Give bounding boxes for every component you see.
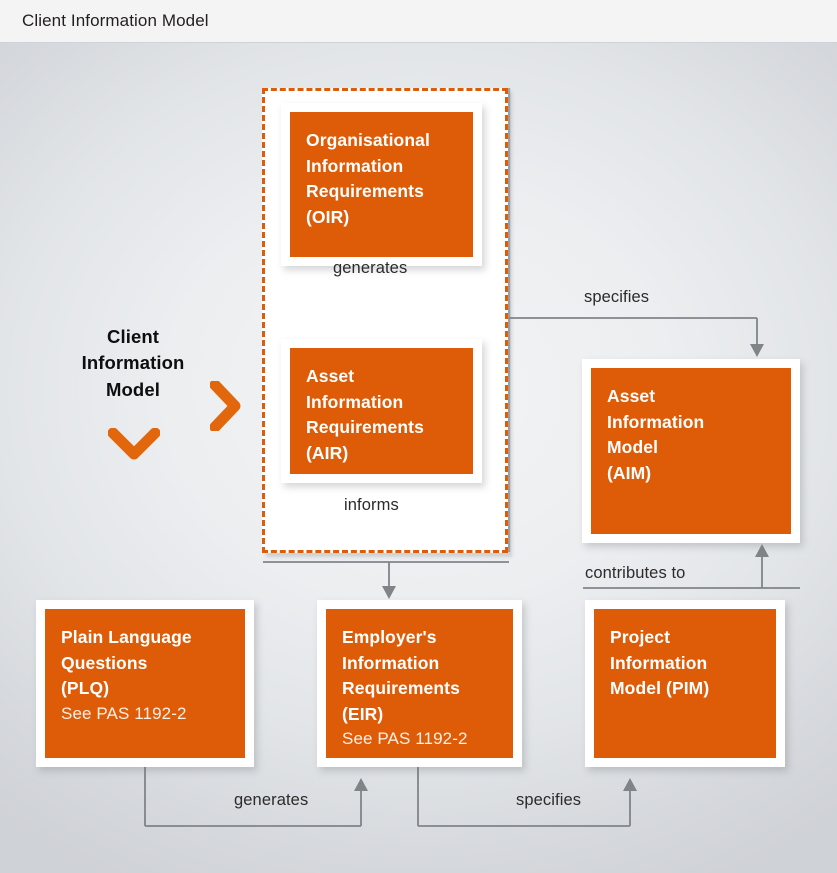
node-oir[interactable]: Organisational Information Requirements … xyxy=(281,103,482,266)
node-aim[interactable]: Asset Information Model (AIM) xyxy=(582,359,800,543)
node-aim-line-4: (AIM) xyxy=(607,463,651,483)
node-eir-line-4: (EIR) xyxy=(342,704,383,724)
caption-line-1: Client xyxy=(107,326,159,347)
node-plq-fill: Plain Language Questions (PLQ) See PAS 1… xyxy=(45,609,245,758)
node-air[interactable]: Asset Information Requirements (AIR) xyxy=(281,339,482,483)
client-information-model-caption: Client Information Model xyxy=(60,324,206,403)
node-aim-label: Asset Information Model (AIM) xyxy=(607,384,777,486)
node-plq-line-1: Plain Language xyxy=(61,627,192,647)
node-air-line-3: Requirements xyxy=(306,417,424,437)
page-header: Client Information Model xyxy=(0,0,837,43)
node-eir-line-3: Requirements xyxy=(342,678,460,698)
node-plq-subtext: See PAS 1192-2 xyxy=(61,702,231,727)
node-aim-line-2: Information xyxy=(607,412,704,432)
node-pim[interactable]: Project Information Model (PIM) xyxy=(585,600,785,767)
node-eir-subtext: See PAS 1192-2 xyxy=(342,727,499,752)
chevron-right-icon xyxy=(210,381,242,431)
edge-label-plq-generates-eir: generates xyxy=(234,791,308,810)
node-plq[interactable]: Plain Language Questions (PLQ) See PAS 1… xyxy=(36,600,254,767)
node-oir-line-2: Information xyxy=(306,156,403,176)
node-aim-line-3: Model xyxy=(607,437,658,457)
node-eir-line-1: Employer's xyxy=(342,627,437,647)
node-oir-line-3: Requirements xyxy=(306,181,424,201)
node-air-fill: Asset Information Requirements (AIR) xyxy=(290,348,473,474)
node-air-line-4: (AIR) xyxy=(306,443,348,463)
node-pim-line-3: Model (PIM) xyxy=(610,678,709,698)
node-oir-line-1: Organisational xyxy=(306,130,430,150)
diagram-page: Client Information Model xyxy=(0,0,837,873)
node-pim-line-1: Project xyxy=(610,627,670,647)
node-air-line-2: Information xyxy=(306,392,403,412)
node-aim-line-1: Asset xyxy=(607,386,655,406)
edge-air-specifies-aim xyxy=(509,318,764,357)
node-plq-line-2: Questions xyxy=(61,653,147,673)
edge-label-air-informs: informs xyxy=(344,496,399,515)
node-pim-fill: Project Information Model (PIM) xyxy=(594,609,776,758)
node-oir-line-4: (OIR) xyxy=(306,207,349,227)
node-eir[interactable]: Employer's Information Requirements (EIR… xyxy=(317,600,522,767)
caption-line-3: Model xyxy=(106,379,160,400)
node-oir-fill: Organisational Information Requirements … xyxy=(290,112,473,257)
node-aim-fill: Asset Information Model (AIM) xyxy=(591,368,791,534)
page-title: Client Information Model xyxy=(22,11,209,31)
node-pim-line-2: Information xyxy=(610,653,707,673)
node-air-line-1: Asset xyxy=(306,366,354,386)
node-plq-label: Plain Language Questions (PLQ) xyxy=(61,625,231,702)
edge-label-air-specifies-aim: specifies xyxy=(584,288,649,307)
edge-label-eir-specifies-pim: specifies xyxy=(516,791,581,810)
caption-line-2: Information xyxy=(82,352,185,373)
chevron-down-icon xyxy=(108,428,160,462)
diagram-canvas: Client Information Model Organisational … xyxy=(0,43,837,873)
edge-label-oir-generates-air: generates xyxy=(333,259,407,278)
node-eir-label: Employer's Information Requirements (EIR… xyxy=(342,625,499,727)
edge-group-to-eir xyxy=(382,562,396,599)
node-pim-label: Project Information Model (PIM) xyxy=(610,625,762,702)
node-oir-label: Organisational Information Requirements … xyxy=(306,128,459,230)
node-eir-line-2: Information xyxy=(342,653,439,673)
node-eir-fill: Employer's Information Requirements (EIR… xyxy=(326,609,513,758)
edge-label-pim-contributes-aim: contributes to xyxy=(585,564,685,583)
node-plq-line-3: (PLQ) xyxy=(61,678,109,698)
node-air-label: Asset Information Requirements (AIR) xyxy=(306,364,459,466)
